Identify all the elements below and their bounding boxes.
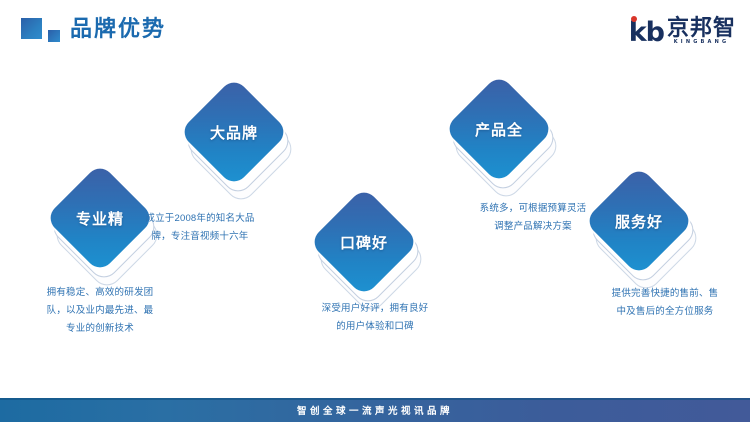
slide-footer: 智创全球一流声光视讯品牌: [0, 398, 750, 422]
caption-line: 专业的创新技术: [20, 320, 180, 338]
slide-canvas: 品牌优势 kb 京邦智 KINGBANG 专业精 拥有稳定、高效的研发团 队，以…: [0, 0, 750, 422]
feature-caption-1: 拥有稳定、高效的研发团 队，以及业内最先进、最 专业的创新技术: [20, 284, 180, 338]
logo-mark: kb: [629, 19, 664, 46]
logo-chinese-block: 京邦智 KINGBANG: [667, 17, 736, 46]
page-title: 品牌优势: [70, 14, 166, 44]
caption-line: 队，以及业内最先进、最: [20, 302, 180, 320]
caption-line: 中及售后的全方位服务: [575, 303, 750, 321]
caption-line: 成立于2008年的知名大品: [110, 210, 290, 228]
company-logo: kb 京邦智 KINGBANG: [629, 14, 736, 46]
decorative-square-large-icon: [20, 17, 43, 40]
decorative-square-small-icon: [47, 29, 61, 43]
feature-caption-5: 提供完善快捷的售前、售 中及售后的全方位服务: [575, 285, 750, 321]
slide-header: 品牌优势 kb 京邦智 KINGBANG: [0, 0, 750, 60]
caption-line: 深受用户好评，拥有良好: [285, 300, 465, 318]
feature-caption-3: 深受用户好评，拥有良好 的用户体验和口碑: [285, 300, 465, 336]
feature-caption-2: 成立于2008年的知名大品 牌，专注音视频十六年: [110, 210, 290, 246]
caption-line: 牌，专注音视频十六年: [110, 228, 290, 246]
caption-line: 拥有稳定、高效的研发团: [20, 284, 180, 302]
footer-slogan: 智创全球一流声光视讯品牌: [297, 403, 453, 417]
caption-line: 提供完善快捷的售前、售: [575, 285, 750, 303]
logo-dot-icon: [631, 16, 637, 22]
caption-line: 的用户体验和口碑: [285, 318, 465, 336]
logo-pinyin: KINGBANG: [674, 39, 730, 46]
footer-top-rule: [0, 398, 750, 400]
logo-chinese-name: 京邦智: [667, 17, 736, 39]
